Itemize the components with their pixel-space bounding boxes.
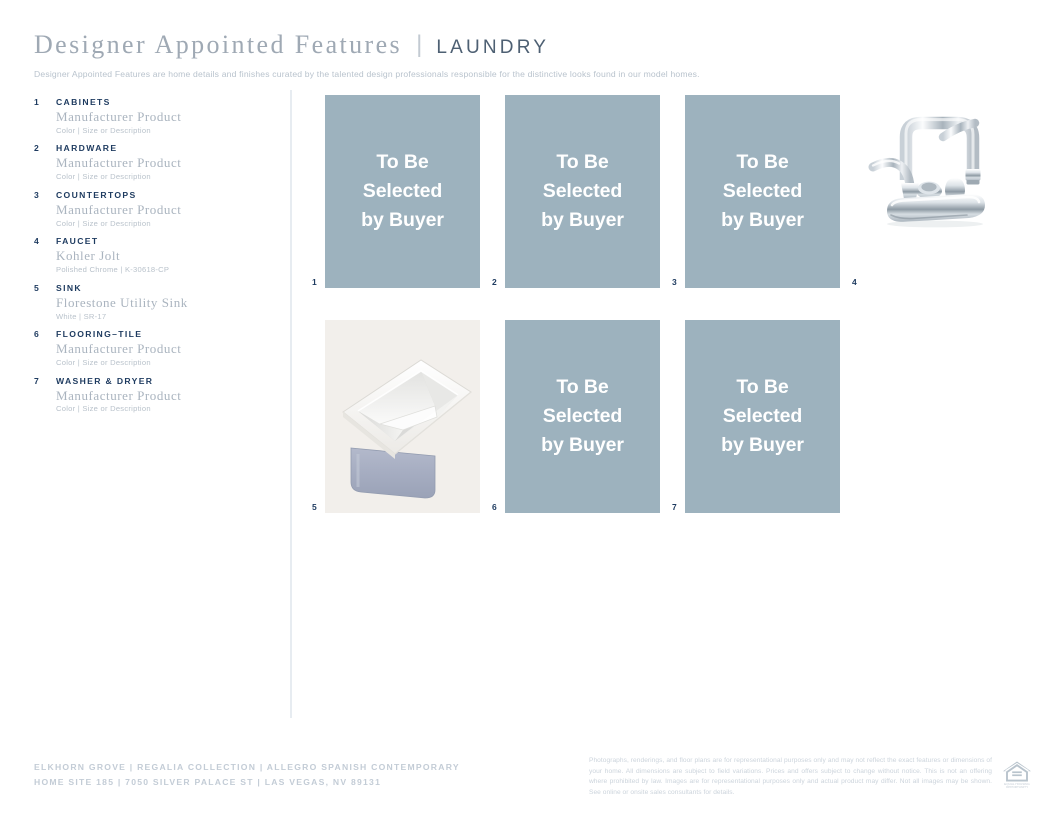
feature-name: WASHER & DRYER — [56, 376, 153, 386]
tile-number: 2 — [492, 277, 497, 287]
feature-number: 1 — [34, 97, 56, 107]
tile-washer-dryer[interactable]: To Be Selected by Buyer 7 — [672, 320, 828, 513]
placeholder-line-1: To Be — [376, 151, 428, 173]
feature-meta: Color | Size or Description — [56, 358, 270, 367]
feature-item-sink: 5 SINK Florestone Utility Sink White | S… — [34, 283, 270, 321]
placeholder-line-3: by Buyer — [721, 434, 804, 456]
tile-countertops[interactable]: To Be Selected by Buyer 3 — [672, 95, 828, 288]
feature-number: 2 — [34, 143, 56, 153]
feature-heading: 3 COUNTERTOPS — [34, 190, 270, 200]
placeholder-line-2: Selected — [723, 180, 802, 202]
tile-placeholder-box[interactable]: To Be Selected by Buyer — [685, 320, 840, 513]
feature-product: Manufacturer Product — [56, 341, 270, 356]
feature-details: Manufacturer Product Color | Size or Des… — [34, 341, 270, 367]
tile-sink[interactable]: 5 — [312, 320, 468, 513]
product-image-grid: To Be Selected by Buyer 1 To Be Selected… — [312, 95, 1032, 535]
equal-housing-opportunity-logo: EQUAL HOUSING OPPORTUNITY — [1001, 758, 1033, 789]
feature-number: 4 — [34, 236, 56, 246]
feature-name: SINK — [56, 283, 82, 293]
feature-name: FAUCET — [56, 236, 98, 246]
feature-details: Florestone Utility Sink White | SR-17 — [34, 295, 270, 321]
tile-placeholder-box[interactable]: To Be Selected by Buyer — [685, 95, 840, 288]
feature-number: 3 — [34, 190, 56, 200]
feature-item-hardware: 2 HARDWARE Manufacturer Product Color | … — [34, 143, 270, 181]
feature-meta: Color | Size or Description — [56, 219, 270, 228]
tile-number: 5 — [312, 502, 317, 512]
faucet-product-image[interactable] — [865, 95, 1020, 288]
feature-meta: Polished Chrome | K-30618-CP — [56, 265, 270, 274]
tile-number: 4 — [852, 277, 857, 287]
page-title-main: Designer Appointed Features — [34, 30, 402, 60]
feature-meta: Color | Size or Description — [56, 172, 270, 181]
feature-heading: 2 HARDWARE — [34, 143, 270, 153]
tile-faucet[interactable]: 4 — [852, 95, 1008, 288]
community-line-1: ELKHORN GROVE | REGALIA COLLECTION | ALL… — [34, 760, 460, 775]
feature-details: Manufacturer Product Color | Size or Des… — [34, 155, 270, 181]
placeholder-line-3: by Buyer — [541, 209, 624, 231]
feature-heading: 5 SINK — [34, 283, 270, 293]
tile-hardware[interactable]: To Be Selected by Buyer 2 — [492, 95, 648, 288]
community-line-2: HOME SITE 185 | 7050 SILVER PALACE ST | … — [34, 775, 460, 790]
feature-item-faucet: 4 FAUCET Kohler Jolt Polished Chrome | K… — [34, 236, 270, 274]
placeholder-line-1: To Be — [736, 376, 788, 398]
placeholder-line-1: To Be — [736, 151, 788, 173]
feature-name: HARDWARE — [56, 143, 117, 153]
features-list: 1 CABINETS Manufacturer Product Color | … — [34, 97, 270, 422]
feature-product: Manufacturer Product — [56, 202, 270, 217]
placeholder-line-1: To Be — [556, 151, 608, 173]
placeholder-line-2: Selected — [543, 405, 622, 427]
feature-product: Florestone Utility Sink — [56, 295, 270, 310]
placeholder-line-2: Selected — [363, 180, 442, 202]
page-title-room: LAUNDRY — [436, 37, 549, 59]
tile-number: 1 — [312, 277, 317, 287]
feature-item-cabinets: 1 CABINETS Manufacturer Product Color | … — [34, 97, 270, 135]
faucet-icon — [865, 95, 1020, 288]
page-description: Designer Appointed Features are home det… — [34, 69, 1024, 79]
feature-name: CABINETS — [56, 97, 111, 107]
tile-number: 6 — [492, 502, 497, 512]
feature-item-flooring-tile: 6 FLOORING–TILE Manufacturer Product Col… — [34, 329, 270, 367]
page-title: Designer Appointed Features | LAUNDRY — [34, 30, 1024, 60]
tile-cabinets[interactable]: To Be Selected by Buyer 1 — [312, 95, 468, 288]
feature-heading: 7 WASHER & DRYER — [34, 376, 270, 386]
feature-meta: Color | Size or Description — [56, 404, 270, 413]
placeholder-line-3: by Buyer — [541, 434, 624, 456]
tile-placeholder-box[interactable]: To Be Selected by Buyer — [505, 95, 660, 288]
page-footer: ELKHORN GROVE | REGALIA COLLECTION | ALL… — [0, 752, 1055, 815]
placeholder-line-2: Selected — [723, 405, 802, 427]
equal-housing-icon: EQUAL HOUSING OPPORTUNITY — [1001, 758, 1033, 789]
tile-placeholder-text: To Be Selected by Buyer — [541, 148, 624, 235]
feature-details: Manufacturer Product Color | Size or Des… — [34, 202, 270, 228]
title-separator: | — [416, 31, 422, 59]
feature-heading: 6 FLOORING–TILE — [34, 329, 270, 339]
tile-placeholder-box[interactable]: To Be Selected by Buyer — [325, 95, 480, 288]
utility-sink-icon — [325, 320, 480, 513]
tile-number: 7 — [672, 502, 677, 512]
tile-flooring[interactable]: To Be Selected by Buyer 6 — [492, 320, 648, 513]
tile-number: 3 — [672, 277, 677, 287]
tile-placeholder-text: To Be Selected by Buyer — [721, 148, 804, 235]
feature-details: Manufacturer Product Color | Size or Des… — [34, 388, 270, 414]
feature-details: Manufacturer Product Color | Size or Des… — [34, 109, 270, 135]
tile-placeholder-text: To Be Selected by Buyer — [361, 148, 444, 235]
legal-disclaimer: Photographs, renderings, and floor plans… — [589, 756, 992, 799]
placeholder-line-2: Selected — [543, 180, 622, 202]
feature-product: Manufacturer Product — [56, 109, 270, 124]
tile-row: 5 To Be Selected by Buyer 6 To Be Select… — [312, 320, 1032, 535]
feature-details: Kohler Jolt Polished Chrome | K-30618-CP — [34, 248, 270, 274]
feature-item-washer-dryer: 7 WASHER & DRYER Manufacturer Product Co… — [34, 376, 270, 414]
sink-product-image[interactable] — [325, 320, 480, 513]
feature-product: Kohler Jolt — [56, 248, 270, 263]
tile-placeholder-text: To Be Selected by Buyer — [721, 373, 804, 460]
feature-item-countertops: 3 COUNTERTOPS Manufacturer Product Color… — [34, 190, 270, 228]
feature-number: 7 — [34, 376, 56, 386]
feature-product: Manufacturer Product — [56, 155, 270, 170]
placeholder-line-1: To Be — [556, 376, 608, 398]
feature-meta: Color | Size or Description — [56, 126, 270, 135]
tile-placeholder-box[interactable]: To Be Selected by Buyer — [505, 320, 660, 513]
feature-name: FLOORING–TILE — [56, 329, 142, 339]
svg-text:OPPORTUNITY: OPPORTUNITY — [1006, 785, 1028, 789]
placeholder-line-3: by Buyer — [721, 209, 804, 231]
feature-name: COUNTERTOPS — [56, 190, 137, 200]
community-address: ELKHORN GROVE | REGALIA COLLECTION | ALL… — [34, 760, 460, 790]
feature-number: 5 — [34, 283, 56, 293]
tile-placeholder-text: To Be Selected by Buyer — [541, 373, 624, 460]
tile-row: To Be Selected by Buyer 1 To Be Selected… — [312, 95, 1032, 310]
page-header: Designer Appointed Features | LAUNDRY De… — [34, 30, 1024, 79]
feature-number: 6 — [34, 329, 56, 339]
placeholder-line-3: by Buyer — [361, 209, 444, 231]
feature-heading: 1 CABINETS — [34, 97, 270, 107]
section-divider — [290, 90, 292, 718]
feature-meta: White | SR-17 — [56, 312, 270, 321]
feature-product: Manufacturer Product — [56, 388, 270, 403]
feature-heading: 4 FAUCET — [34, 236, 270, 246]
